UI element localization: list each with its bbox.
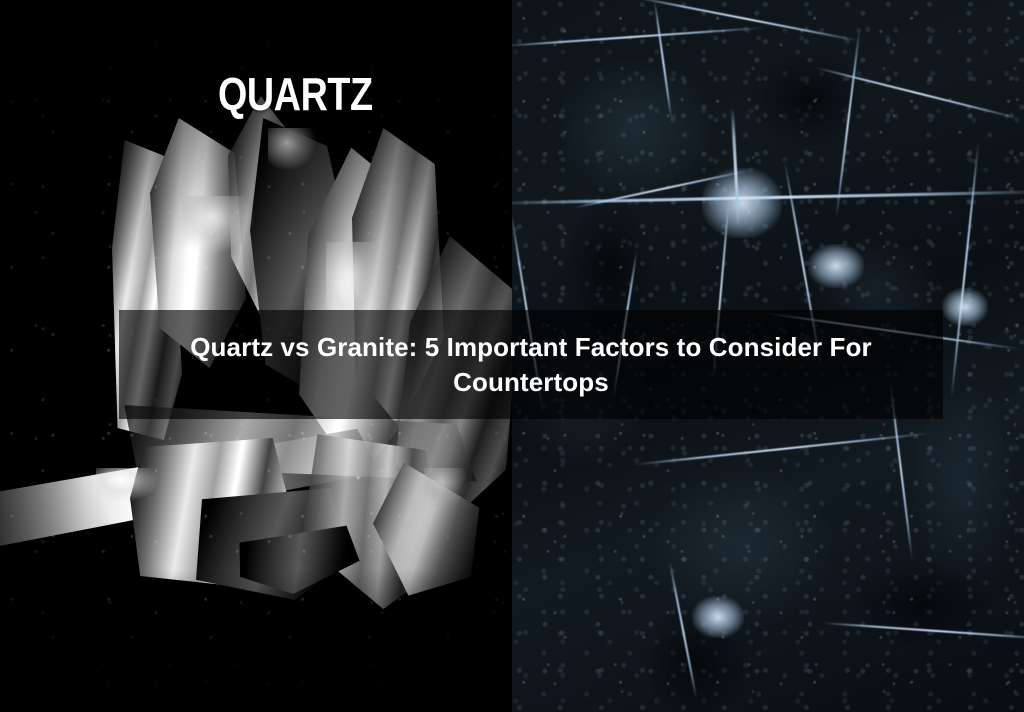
comparison-graphic: QUARTZ GRANITE Quartz vs G	[0, 0, 1024, 712]
granite-vein-node	[942, 288, 988, 326]
quartz-highlight	[424, 468, 468, 508]
title-banner: Quartz vs Granite: 5 Important Factors t…	[119, 310, 943, 419]
granite-vein-node	[692, 596, 744, 638]
quartz-highlight	[182, 196, 254, 254]
quartz-label: QUARTZ	[218, 71, 373, 117]
quartz-highlight	[268, 128, 316, 170]
page-title: Quartz vs Granite: 5 Important Factors t…	[151, 330, 911, 400]
granite-vein-node	[808, 244, 864, 288]
quartz-highlight	[96, 468, 158, 502]
granite-vein-node	[702, 168, 782, 238]
